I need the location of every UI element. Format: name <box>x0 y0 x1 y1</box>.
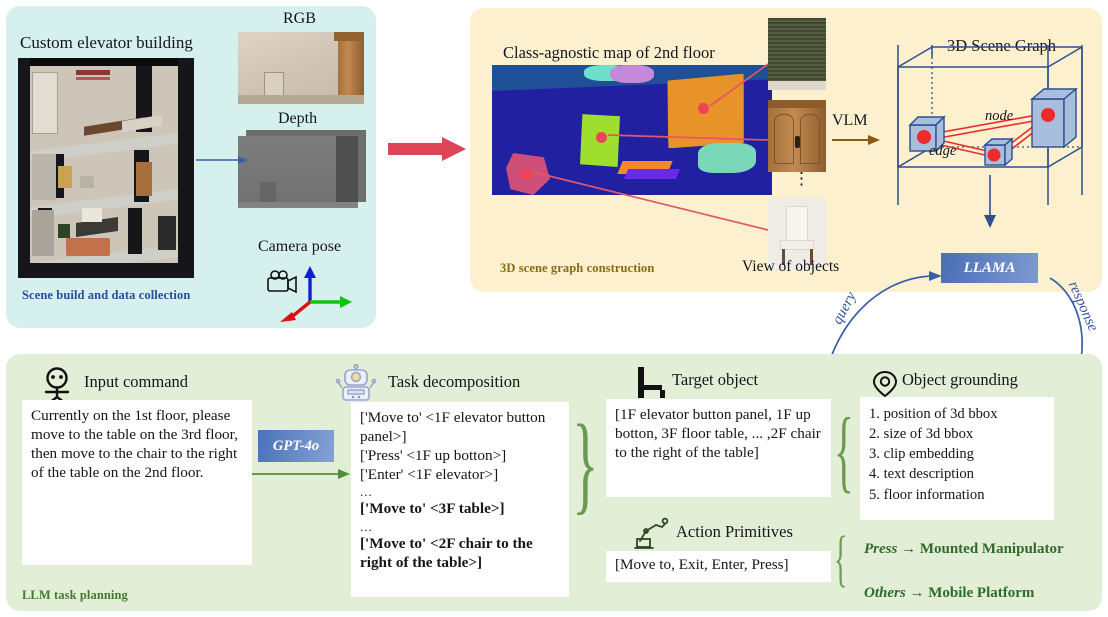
class-agnostic-map-title: Class-agnostic map of 2nd floor <box>503 43 715 63</box>
blue-arrow-icon <box>196 152 248 168</box>
input-command-header: Input command <box>84 372 188 392</box>
camera-pose-axes-icon <box>262 262 358 322</box>
segment-dot-cabinet <box>596 132 607 143</box>
target-to-grounding-brace: { <box>834 404 854 496</box>
routing-trigger: Others <box>864 585 906 601</box>
person-icon <box>40 367 74 403</box>
segment-dot-blinds <box>698 103 709 114</box>
grounding-item: 3. clip embedding <box>869 444 1045 464</box>
rgb-label: RGB <box>283 10 316 28</box>
3d-scene-graph-diagram <box>880 45 1098 230</box>
target-object-header: Target object <box>672 370 758 390</box>
figure-root: Custom elevator building RGB <box>0 0 1108 617</box>
input-command-textbox[interactable]: Currently on the 1st floor, please move … <box>22 400 252 565</box>
query-label: query <box>830 289 861 327</box>
object-grounding-list[interactable]: 1. position of 3d bbox 2. size of 3d bbo… <box>860 397 1054 520</box>
segment-dot-chair <box>521 169 532 180</box>
custom-elevator-building-title: Custom elevator building <box>20 33 193 53</box>
grounding-item: 4. text description <box>869 464 1045 484</box>
task-line: ['Enter' <1F elevator>] <box>360 466 560 485</box>
routing-target: Mounted Manipulator <box>920 541 1064 557</box>
scene-graph-caption: 3D scene graph construction <box>500 261 654 276</box>
action-to-routing-brace: { <box>834 528 847 590</box>
grounding-item: 1. position of 3d bbox <box>869 404 1045 424</box>
routing-trigger: Press <box>864 541 897 557</box>
task-decomposition-textbox[interactable]: ['Move to' <1F elevator button panel>] [… <box>351 402 569 597</box>
building-cutaway-render <box>18 58 194 278</box>
task-line: ['Move to' <2F chair to the right of the… <box>360 535 560 573</box>
vlm-label: VLM <box>832 112 868 130</box>
task-line: ['Move to' <3F table>] <box>360 500 560 519</box>
gpt-4o-badge[interactable]: GPT-4o <box>258 430 334 462</box>
llama-model-badge[interactable]: LLAMA <box>941 253 1038 283</box>
action-primitives-textbox[interactable]: [Move to, Exit, Enter, Press] <box>606 551 831 582</box>
node-label: node <box>985 108 1013 125</box>
scene-build-caption: Scene build and data collection <box>22 288 190 303</box>
red-flow-arrow-icon <box>388 136 466 162</box>
task-line: ['Move to' <1F elevator button panel>] <box>360 409 560 447</box>
robot-icon <box>336 364 376 404</box>
task-decomposition-header: Task decomposition <box>388 372 520 392</box>
depth-label: Depth <box>278 110 317 128</box>
chair-icon <box>634 366 668 399</box>
rgb-image-thumbnail <box>238 32 364 104</box>
edge-label: edge <box>929 143 956 160</box>
object-grounding-header: Object grounding <box>902 370 1018 390</box>
object-thumbnail-blinds <box>768 18 826 90</box>
routing-arrow-icon: → <box>901 541 916 557</box>
task-line: ... <box>360 519 560 535</box>
gpt-flow-arrow-icon <box>252 467 350 481</box>
routing-target: Mobile Platform <box>928 585 1034 601</box>
routing-rule-press: Press → Mounted Manipulator <box>864 541 1064 558</box>
grounding-item: 2. size of 3d bbox <box>869 424 1045 444</box>
target-object-textbox[interactable]: [1F elevator button panel, 1F up botton,… <box>606 399 831 497</box>
camera-pose-label: Camera pose <box>258 238 341 256</box>
object-thumbnail-cabinet <box>768 100 826 172</box>
routing-rule-others: Others → Mobile Platform <box>864 585 1034 602</box>
routing-arrow-icon: → <box>909 585 924 601</box>
task-to-target-brace: } <box>572 408 598 518</box>
robot-arm-icon <box>634 517 670 551</box>
task-line: ... <box>360 484 560 500</box>
depth-image-thumbnail-front <box>238 136 358 208</box>
task-line: ['Press' <1F up botton>] <box>360 447 560 466</box>
class-agnostic-segmentation-map <box>492 65 772 195</box>
action-primitives-header: Action Primitives <box>676 522 793 542</box>
grounding-item: 5. floor information <box>869 485 1045 505</box>
view-of-objects-label: View of objects <box>742 258 839 276</box>
vertical-ellipsis-icon: ⋮ <box>793 176 810 181</box>
llm-task-planning-caption: LLM task planning <box>22 588 128 603</box>
vlm-arrow-icon <box>832 132 880 148</box>
location-pin-icon <box>872 370 898 398</box>
